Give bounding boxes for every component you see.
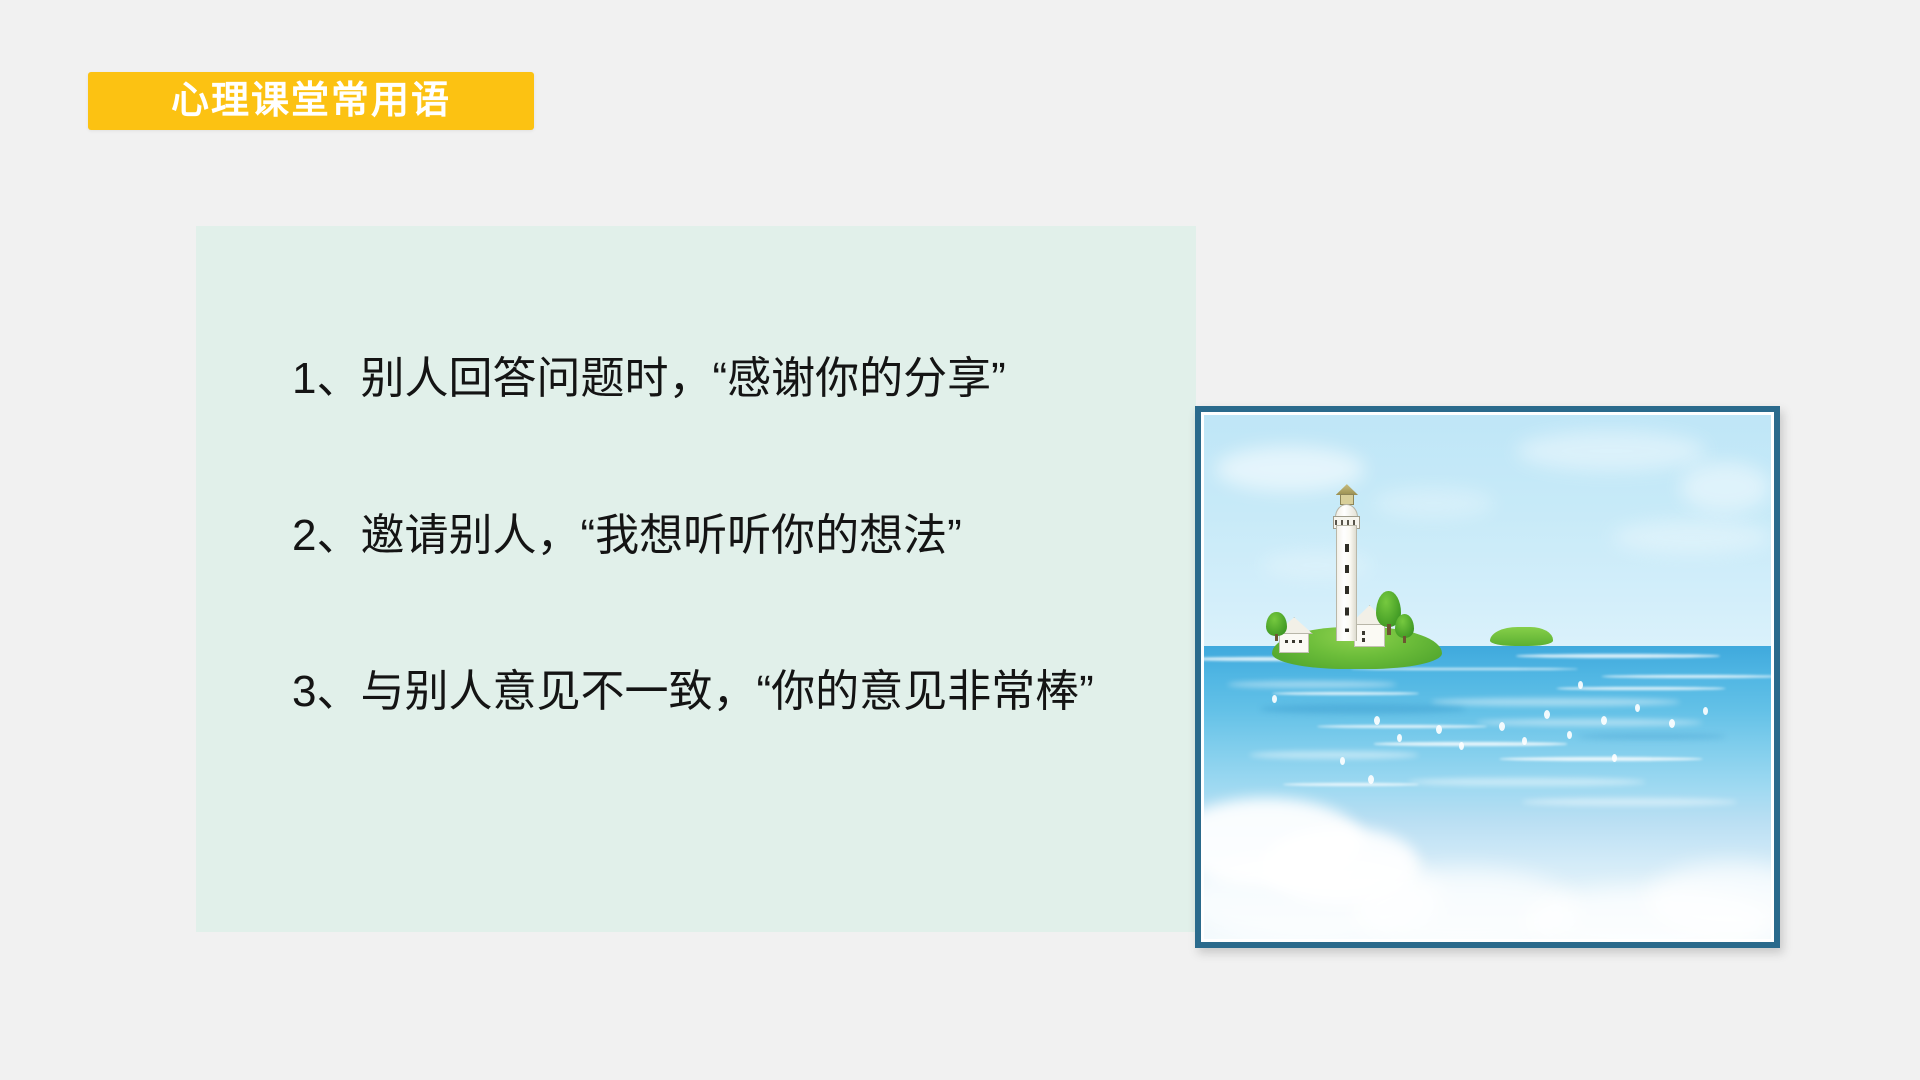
house-window bbox=[1362, 631, 1365, 635]
statement-item: 1、别人回答问题时，“感谢你的分享” bbox=[292, 354, 1232, 405]
content-panel: 1、别人回答问题时，“感谢你的分享” 2、邀请别人，“我想听听你的想法” 3、与… bbox=[196, 226, 1196, 932]
statement-item: 3、与别人意见不一致，“你的意见非常棒” bbox=[292, 667, 1232, 718]
house-window bbox=[1362, 638, 1365, 642]
tree bbox=[1266, 612, 1286, 641]
small-islet bbox=[1490, 627, 1552, 646]
page-title: 心理课堂常用语 bbox=[171, 82, 451, 120]
cloud-icon bbox=[1612, 520, 1771, 554]
cloud-icon bbox=[1374, 488, 1494, 518]
lighthouse bbox=[1332, 484, 1363, 641]
house-window bbox=[1299, 640, 1302, 643]
lighthouse-windows bbox=[1345, 544, 1349, 632]
illustration-frame bbox=[1195, 406, 1780, 948]
slide-canvas: 心理课堂常用语 1、别人回答问题时，“感谢你的分享” 2、邀请别人，“我想听听你… bbox=[0, 0, 1920, 1080]
tree bbox=[1395, 614, 1414, 643]
cloud-icon bbox=[1680, 462, 1770, 512]
lighthouse-seascape-illustration bbox=[1204, 415, 1771, 939]
house-window bbox=[1292, 640, 1295, 643]
title-badge: 心理课堂常用语 bbox=[88, 72, 534, 130]
cloud-icon bbox=[1516, 431, 1706, 471]
ocean bbox=[1204, 646, 1771, 939]
statement-list: 1、别人回答问题时，“感谢你的分享” 2、邀请别人，“我想听听你的想法” 3、与… bbox=[292, 354, 1232, 718]
statement-item: 2、邀请别人，“我想听听你的想法” bbox=[292, 511, 1232, 562]
